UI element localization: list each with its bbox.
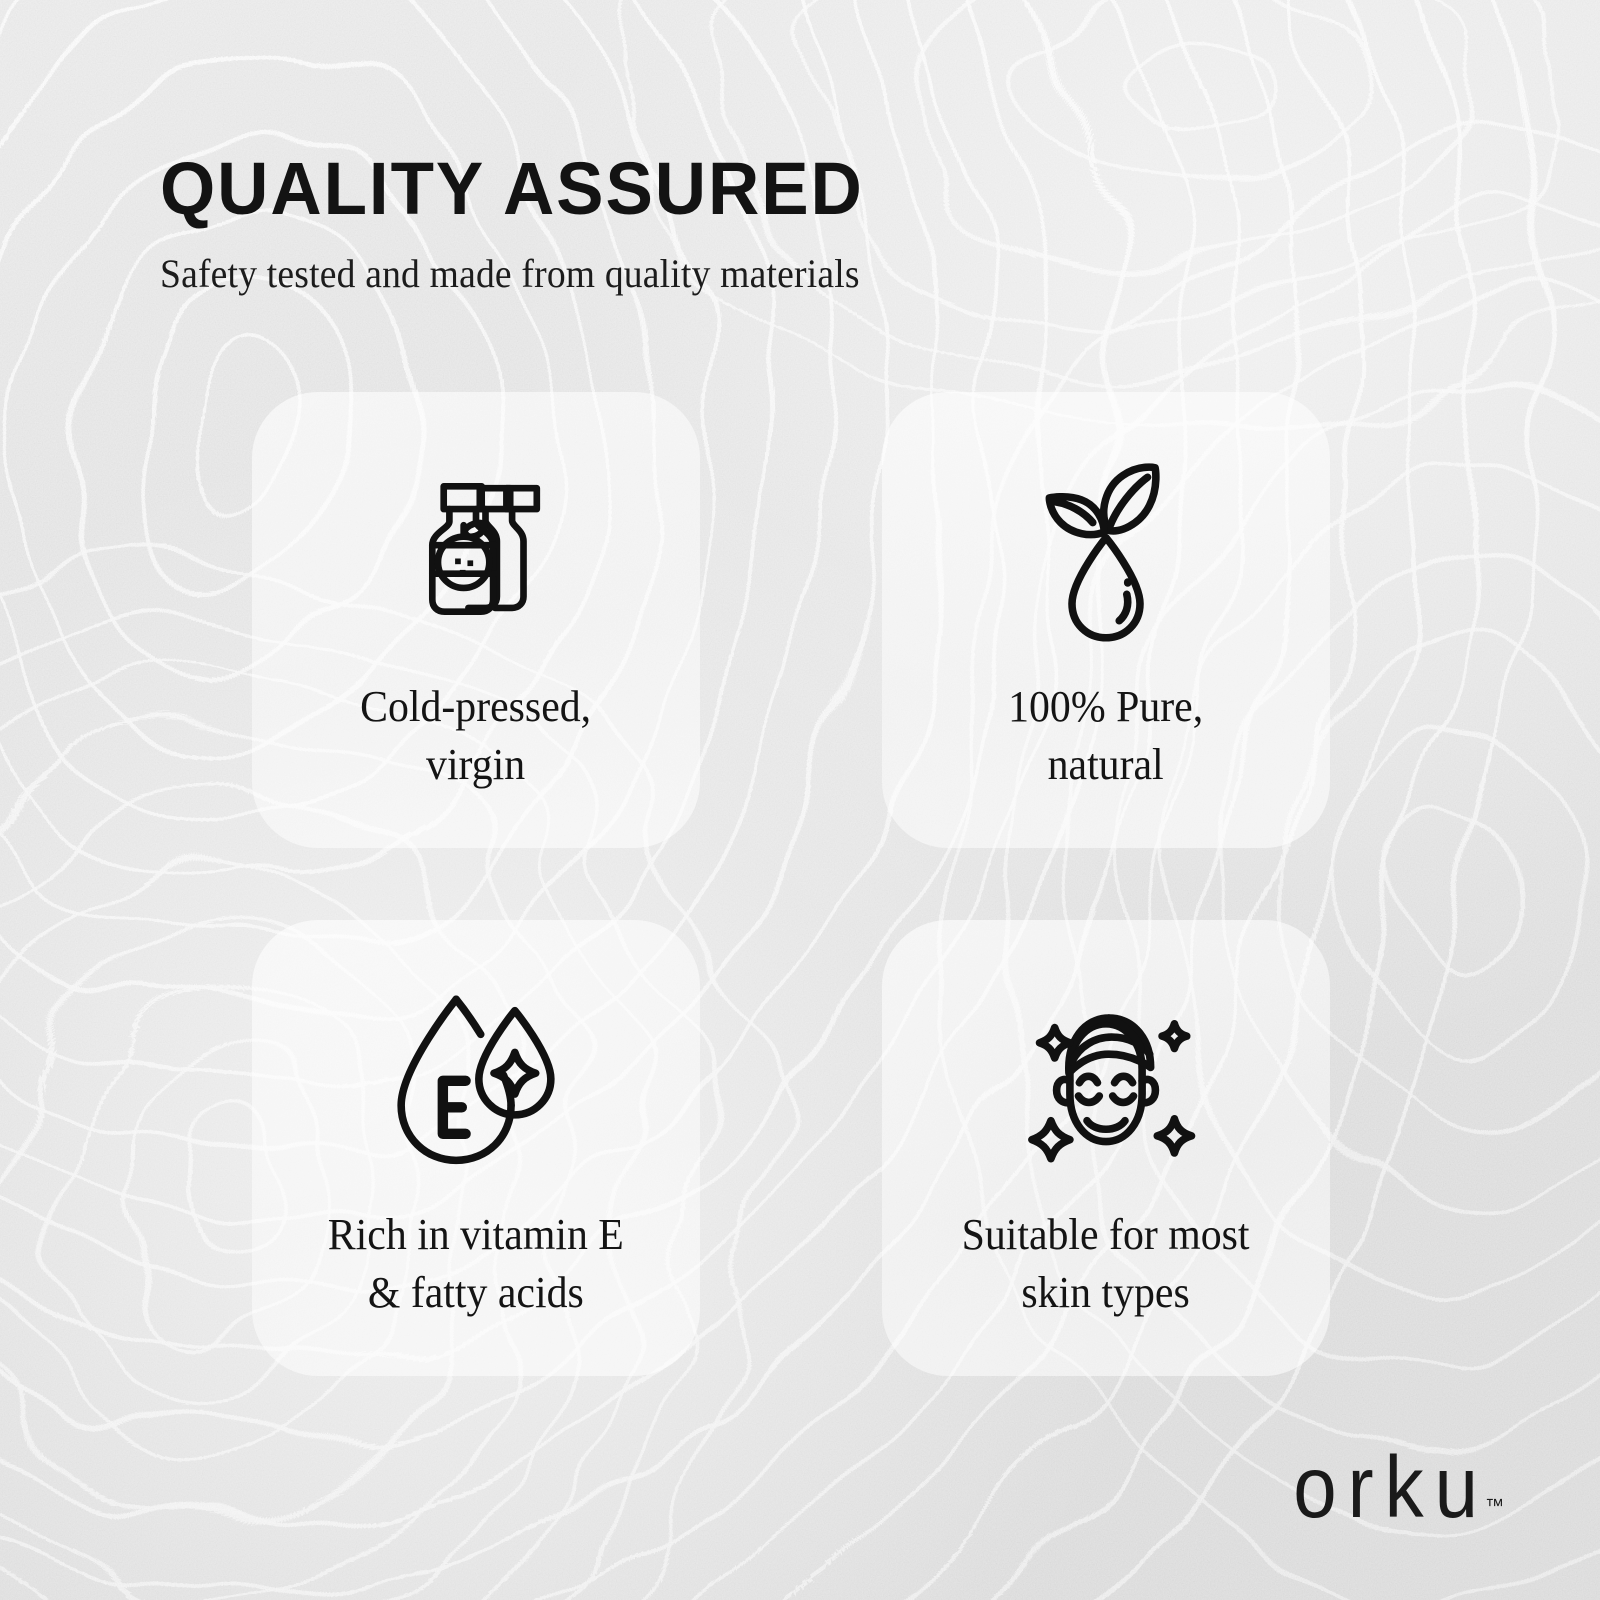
feature-label: Rich in vitamin E & fatty acids	[328, 1206, 624, 1322]
page-subtitle: Safety tested and made from quality mate…	[160, 226, 1288, 296]
vitamin-e-droplet-icon	[386, 982, 566, 1172]
feature-label: Suitable for most skin types	[962, 1206, 1250, 1322]
leaf-droplet-icon	[1021, 454, 1191, 644]
face-sparkle-icon	[1011, 982, 1201, 1172]
feature-card-skin-types[interactable]: Suitable for most skin types	[882, 920, 1330, 1376]
infographic-page: QUALITY ASSURED Safety tested and made f…	[0, 0, 1600, 1600]
page-title: QUALITY ASSURED	[160, 152, 1312, 226]
feature-grid: Cold-pressed, virgin	[252, 392, 1342, 1376]
header: QUALITY ASSURED Safety tested and made f…	[160, 152, 1360, 296]
feature-card-cold-pressed[interactable]: Cold-pressed, virgin	[252, 392, 700, 848]
feature-label: 100% Pure, natural	[1008, 678, 1203, 794]
brand-name: orku	[1293, 1448, 1489, 1528]
jars-icon	[381, 454, 571, 644]
feature-card-vitamin-e[interactable]: Rich in vitamin E & fatty acids	[252, 920, 700, 1376]
feature-card-pure-natural[interactable]: 100% Pure, natural	[882, 392, 1330, 848]
brand-logo: orku ™	[1293, 1456, 1504, 1528]
feature-label: Cold-pressed, virgin	[360, 678, 591, 794]
